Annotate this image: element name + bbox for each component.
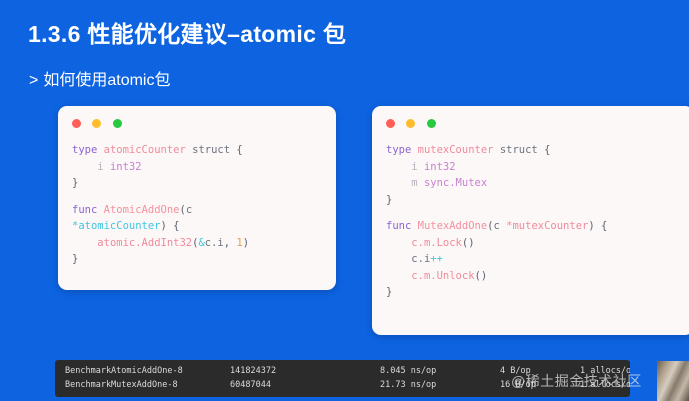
benchmark-allocs-per-op: 1 allocs/op: [580, 364, 630, 378]
code-line: atomic.AddInt32(&c.i, 1): [72, 235, 324, 252]
code-card-mutex: type mutexCounter struct { i int32 m syn…: [372, 106, 689, 335]
benchmark-ns-per-op: 21.73 ns/op: [380, 378, 500, 392]
code-token: {: [538, 144, 551, 156]
code-token: sync.Mutex: [424, 177, 487, 189]
code-token: *mutexCounter: [506, 220, 588, 232]
code-line: [72, 192, 324, 202]
code-token: type: [72, 144, 97, 156]
code-token: AtomicAddOne: [104, 204, 180, 216]
code-token: c.i: [411, 253, 430, 265]
chevron-right-icon: >: [29, 72, 38, 89]
code-token: }: [72, 253, 78, 265]
slide-subtitle-text: 如何使用atomic包: [43, 72, 170, 89]
code-token: [386, 161, 411, 173]
benchmark-iterations: 141824372: [230, 364, 380, 378]
code-line: }: [72, 175, 324, 192]
page-title: 1.3.6 性能优化建议–atomic 包: [28, 15, 346, 49]
code-token: func: [72, 204, 97, 216]
code-token: func: [386, 220, 411, 232]
close-icon[interactable]: [72, 119, 81, 128]
code-token: MutexAddOne: [418, 220, 488, 232]
benchmark-allocs-per-op: 1 allocs/op: [580, 378, 630, 392]
benchmark-row: BenchmarkMutexAddOne-86048704421.73 ns/o…: [55, 378, 630, 392]
code-token: (): [462, 237, 475, 249]
code-token: c: [186, 204, 192, 216]
code-line: }: [386, 192, 682, 209]
code-token: int32: [110, 161, 142, 173]
benchmark-name: BenchmarkMutexAddOne-8: [65, 378, 230, 392]
code-line: i int32: [72, 159, 324, 176]
maximize-icon[interactable]: [427, 119, 436, 128]
code-line: m sync.Mutex: [386, 175, 682, 192]
close-icon[interactable]: [386, 119, 395, 128]
code-line: c.i++: [386, 251, 682, 268]
code-token: c.i: [205, 237, 224, 249]
code-line: *atomicCounter) {: [72, 218, 324, 235]
benchmark-terminal: BenchmarkAtomicAddOne-81418243728.045 ns…: [55, 360, 630, 397]
code-token: [386, 237, 411, 249]
code-token: c.m.Lock: [411, 237, 462, 249]
code-token: }: [386, 194, 392, 206]
benchmark-bytes-per-op: 4 B/op: [500, 364, 580, 378]
benchmark-name: BenchmarkAtomicAddOne-8: [65, 364, 230, 378]
code-token: [386, 270, 411, 282]
code-line: c.m.Lock(): [386, 235, 682, 252]
code-line: i int32: [386, 159, 682, 176]
code-token: ) {: [588, 220, 607, 232]
code-token: ): [243, 237, 249, 249]
code-line: type atomicCounter struct {: [72, 142, 324, 159]
maximize-icon[interactable]: [113, 119, 122, 128]
code-token: ++: [430, 253, 443, 265]
code-token: ,: [224, 237, 237, 249]
benchmark-ns-per-op: 8.045 ns/op: [380, 364, 500, 378]
code-card-titlebar: [372, 106, 689, 130]
benchmark-iterations: 60487044: [230, 378, 380, 392]
code-line: func AtomicAddOne(c: [72, 202, 324, 219]
code-line: type mutexCounter struct {: [386, 142, 682, 159]
code-card-atomic: type atomicCounter struct { i int32}func…: [58, 106, 336, 290]
code-token: atomic.AddInt32: [97, 237, 192, 249]
code-line: }: [386, 284, 682, 301]
code-line: }: [72, 251, 324, 268]
code-block-mutex: type mutexCounter struct { i int32 m syn…: [372, 130, 689, 311]
minimize-icon[interactable]: [92, 119, 101, 128]
benchmark-bytes-per-op: 16 B/op: [500, 378, 580, 392]
code-line: func MutexAddOne(c *mutexCounter) {: [386, 218, 682, 235]
code-token: [386, 177, 411, 189]
code-token: type: [386, 144, 411, 156]
code-token: }: [386, 286, 392, 298]
code-token: c.m.Unlock: [411, 270, 474, 282]
code-token: [72, 237, 97, 249]
code-token: [386, 253, 411, 265]
code-line: [386, 208, 682, 218]
code-token: atomicCounter: [104, 144, 186, 156]
code-token: struct: [500, 144, 538, 156]
code-token: }: [72, 177, 78, 189]
code-token: ) {: [161, 220, 180, 232]
code-token: int32: [424, 161, 456, 173]
code-token: struct: [192, 144, 230, 156]
slide-subtitle: >如何使用atomic包: [29, 66, 170, 90]
code-block-atomic: type atomicCounter struct { i int32}func…: [58, 130, 336, 278]
corner-avatar: [657, 361, 689, 401]
code-token: mutexCounter: [418, 144, 494, 156]
minimize-icon[interactable]: [406, 119, 415, 128]
benchmark-row: BenchmarkAtomicAddOne-81418243728.045 ns…: [55, 364, 630, 378]
code-line: c.m.Unlock(): [386, 268, 682, 285]
code-card-titlebar: [58, 106, 336, 130]
code-token: (): [475, 270, 488, 282]
code-token: {: [230, 144, 243, 156]
code-token: [72, 161, 97, 173]
code-token: *atomicCounter: [72, 220, 161, 232]
